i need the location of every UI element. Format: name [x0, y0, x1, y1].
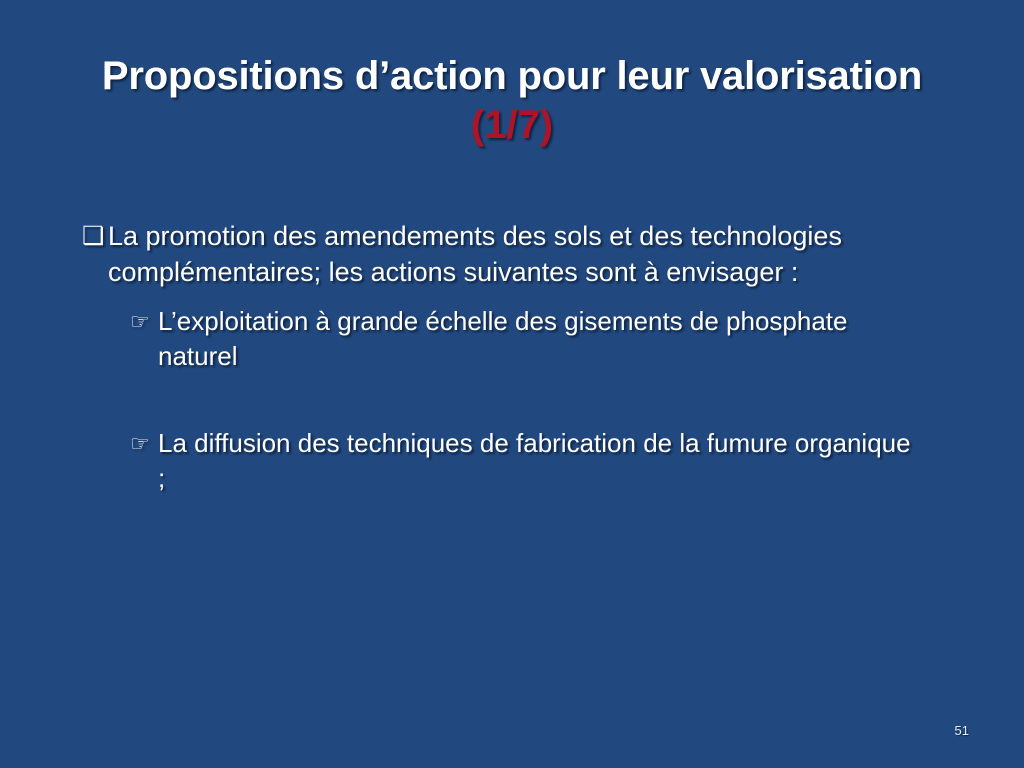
white-square-bullet-icon: ❑	[82, 218, 108, 254]
body-gap-1	[82, 290, 962, 304]
slide-page-number: 51	[955, 723, 969, 738]
pointing-hand-bullet-icon: ☞	[130, 304, 158, 339]
bullet-item-level1: ❑ La promotion des amendements des sols …	[82, 218, 962, 290]
slide-body: ❑ La promotion des amendements des sols …	[82, 218, 962, 496]
slide-title: Propositions d’action pour leur valorisa…	[60, 52, 964, 150]
bullet-item-level2-diffusion-label: La diffusion des techniques de fabricati…	[158, 426, 918, 496]
bullet-item-level2-exploitation-label: L’exploitation à grande échelle des gise…	[158, 304, 918, 374]
presentation-slide: Propositions d’action pour leur valorisa…	[0, 0, 1024, 768]
slide-title-part-indicator: (1/7)	[60, 100, 964, 150]
bullet-item-level1-label: La promotion des amendements des sols et…	[108, 218, 928, 290]
body-blank-line	[82, 374, 962, 426]
slide-title-main: Propositions d’action pour leur valorisa…	[60, 52, 964, 100]
pointing-hand-bullet-icon: ☞	[130, 426, 158, 461]
bullet-item-level2-diffusion: ☞ La diffusion des techniques de fabrica…	[130, 426, 962, 496]
bullet-item-level2-exploitation: ☞ L’exploitation à grande échelle des gi…	[130, 304, 962, 374]
